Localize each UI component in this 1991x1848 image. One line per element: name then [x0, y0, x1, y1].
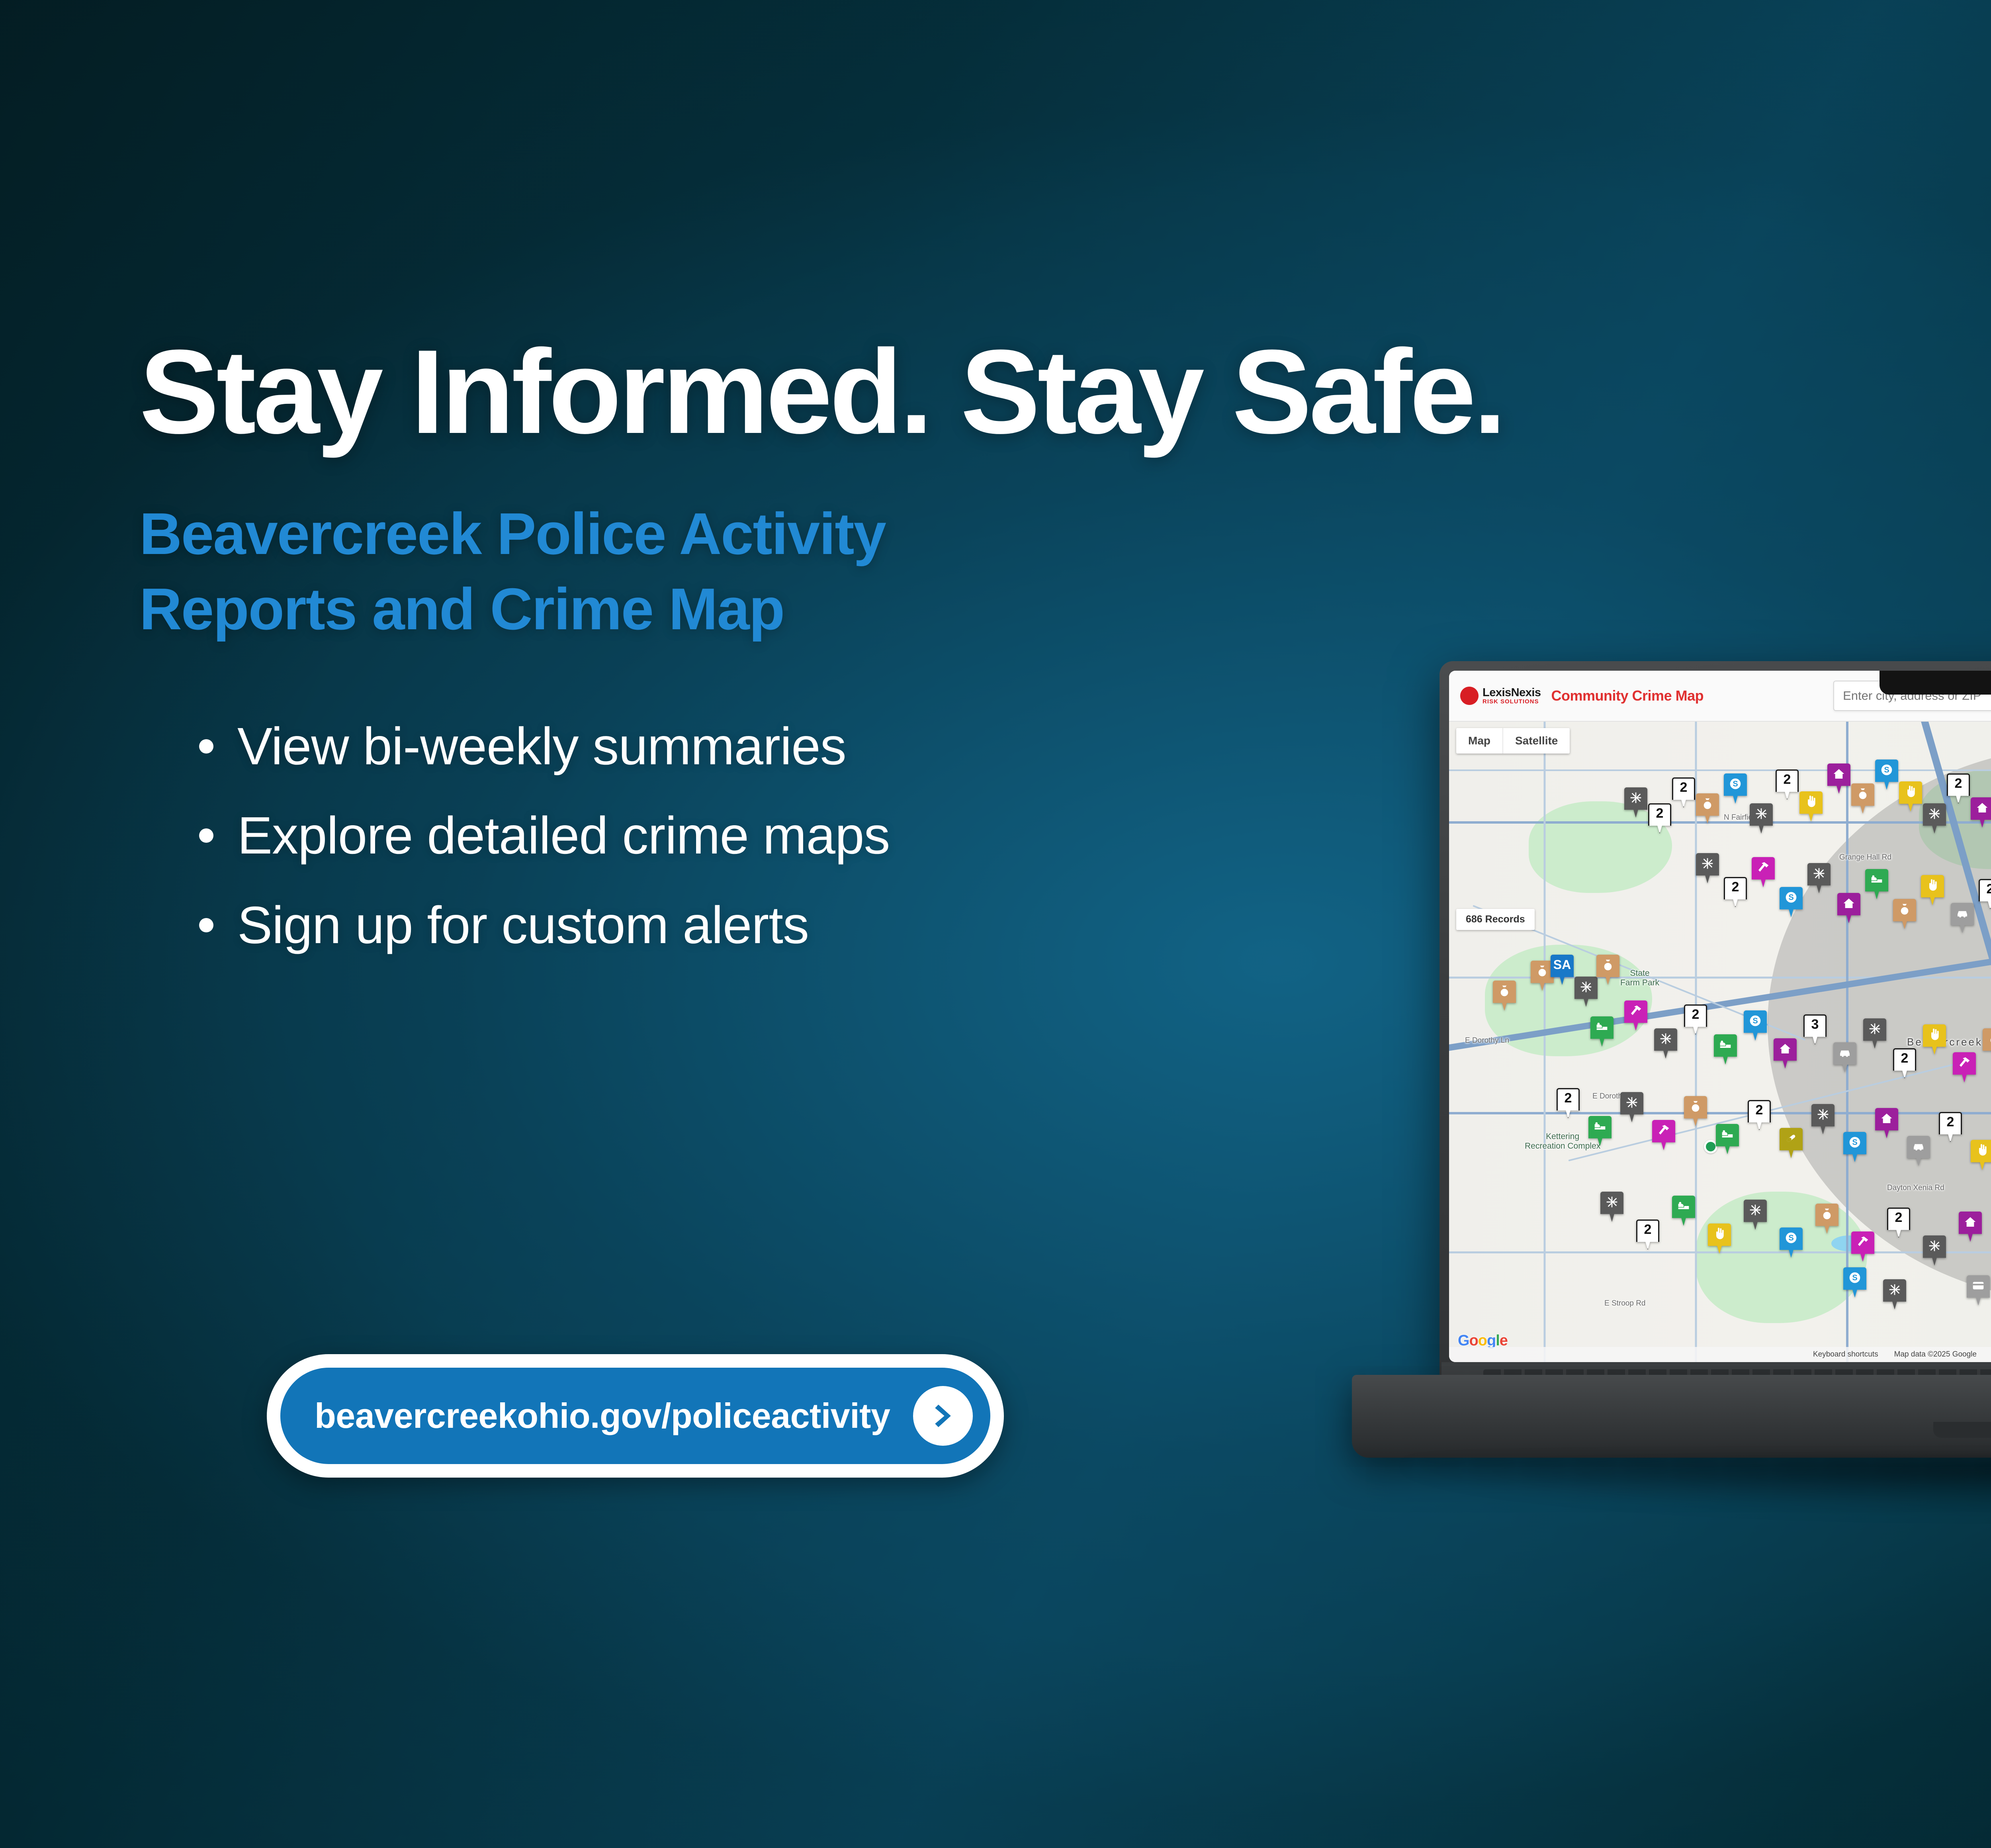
bullet-dot-icon	[199, 918, 213, 932]
incident-pin-dollar[interactable]: S	[1724, 773, 1747, 804]
pin-house-icon	[1842, 897, 1855, 910]
pin-sa-label: SA	[1553, 958, 1571, 971]
pin-house-icon	[1779, 1042, 1792, 1055]
incident-pin-ast[interactable]	[1624, 787, 1647, 818]
pin-cluster-count: 2	[1680, 781, 1688, 794]
incident-cluster-pin[interactable]: 2	[1672, 777, 1695, 808]
road-segment	[1449, 821, 1991, 824]
records-count-badge: 686 Records	[1456, 909, 1535, 930]
bullet-label: View bi-weekly summaries	[237, 715, 846, 778]
map-poi-marker[interactable]	[1704, 1140, 1717, 1153]
feature-bullet-list: View bi-weekly summaries Explore detaile…	[199, 715, 1434, 957]
incident-pin-ast[interactable]	[1883, 1279, 1906, 1310]
pin-ast-icon	[1928, 1239, 1941, 1252]
incident-pin-pills[interactable]	[1780, 1128, 1803, 1158]
pin-cluster-count: 2	[1692, 1008, 1700, 1021]
map-type-map[interactable]: Map	[1456, 728, 1502, 754]
incident-pin-dollar[interactable]: S	[1843, 1267, 1866, 1298]
lexisnexis-logo[interactable]: LexisNexis RISK SOLUTIONS	[1460, 687, 1541, 705]
bullet-dot-icon	[199, 739, 213, 754]
pin-cluster-count: 2	[1784, 773, 1791, 786]
incident-pin-house[interactable]	[1959, 1212, 1982, 1242]
pin-cluster-count: 2	[1644, 1223, 1652, 1236]
incident-pin-card[interactable]	[1967, 1275, 1990, 1306]
incident-pin-car[interactable]	[1907, 1136, 1930, 1166]
incident-pin-ast[interactable]	[1744, 1200, 1767, 1230]
incident-pin-ast[interactable]	[1574, 977, 1598, 1007]
pin-money-icon	[1689, 1100, 1702, 1113]
incident-cluster-pin[interactable]: 2	[1557, 1088, 1580, 1118]
svg-text:S: S	[1752, 1017, 1758, 1026]
map-type-satellite[interactable]: Satellite	[1502, 728, 1570, 754]
cta-url-button[interactable]: beavercreekohio.gov/policeactivity	[280, 1368, 990, 1464]
laptop-mockup: LexisNexis RISK SOLUTIONS Community Crim…	[1352, 661, 1991, 1529]
lexisnexis-mark-icon	[1460, 687, 1479, 705]
pin-cluster-count: 2	[1987, 882, 1991, 896]
incident-pin-money[interactable]	[1893, 899, 1916, 929]
incident-pin-car[interactable]	[1951, 903, 1974, 933]
incident-cluster-pin[interactable]: 2	[1648, 803, 1671, 834]
pin-card-icon	[1972, 1279, 1985, 1292]
incident-pin-dollar[interactable]: S	[1780, 1227, 1803, 1258]
incident-pin-bed[interactable]	[1714, 1034, 1737, 1065]
incident-pin-dollar[interactable]: S	[1780, 887, 1803, 917]
incident-pin-ast[interactable]	[1600, 1192, 1623, 1222]
pin-money-icon	[1898, 903, 1911, 916]
incident-pin-ast[interactable]	[1654, 1028, 1677, 1059]
chevron-right-icon	[913, 1386, 973, 1446]
pin-dollar-icon: S	[1749, 1014, 1762, 1027]
pin-ast-icon	[1625, 1096, 1638, 1109]
pin-bed-icon	[1719, 1038, 1732, 1051]
incident-pin-house[interactable]	[1827, 763, 1850, 794]
pin-ast-icon	[1629, 791, 1642, 804]
map-label: Dayton Xenia Rd	[1887, 1184, 1944, 1192]
pin-cluster-count: 2	[1947, 1115, 1954, 1129]
incident-pin-dollar[interactable]: S	[1875, 760, 1898, 790]
road-segment	[1449, 1112, 1991, 1114]
incident-cluster-pin[interactable]: 2	[1979, 879, 1991, 909]
map-attribution-bar: Keyboard shortcuts Map data ©2025 Google…	[1449, 1347, 1991, 1362]
svg-text:S: S	[1852, 1138, 1857, 1147]
pin-cluster-count: 2	[1656, 807, 1664, 820]
incident-pin-hand[interactable]	[1899, 781, 1922, 812]
pin-ast-icon	[1606, 1196, 1618, 1208]
map-label: Grange Hall Rd	[1839, 853, 1891, 862]
incident-pin-ast[interactable]	[1923, 803, 1946, 834]
laptop-lid: LexisNexis RISK SOLUTIONS Community Crim…	[1439, 661, 1991, 1378]
incident-cluster-pin[interactable]: 3	[1803, 1014, 1827, 1045]
list-item: Explore detailed crime maps	[199, 804, 1434, 867]
incident-pin-hammer[interactable]	[1752, 857, 1775, 887]
list-item: Sign up for custom alerts	[199, 894, 1434, 957]
laptop-screen: LexisNexis RISK SOLUTIONS Community Crim…	[1449, 671, 1991, 1362]
pin-bed-icon	[1870, 873, 1883, 886]
pin-hammer-icon	[1958, 1056, 1971, 1069]
pin-hand-icon	[1926, 879, 1939, 892]
pin-hand-icon	[1713, 1227, 1726, 1240]
page-title: Stay Informed. Stay Safe.	[139, 331, 1434, 452]
pin-cluster-count: 2	[1901, 1051, 1909, 1065]
incident-pin-hand[interactable]	[1923, 1024, 1946, 1055]
pin-money-icon	[1602, 959, 1614, 971]
incident-cluster-pin[interactable]: 2	[1684, 1004, 1707, 1035]
incident-cluster-pin[interactable]: 2	[1748, 1100, 1771, 1130]
pin-money-icon	[1821, 1208, 1833, 1220]
incident-cluster-pin[interactable]: 2	[1947, 773, 1970, 804]
pin-house-icon	[1833, 767, 1845, 780]
pin-hand-icon	[1928, 1028, 1941, 1041]
road-segment	[1846, 722, 1848, 1362]
crime-map-canvas[interactable]: State Farm ParkKettering Recreation Comp…	[1449, 722, 1991, 1362]
pin-bed-icon	[1677, 1200, 1690, 1212]
pin-ast-icon	[1813, 867, 1825, 880]
pin-hand-icon	[1805, 795, 1817, 808]
pin-money-icon	[1701, 797, 1714, 810]
incident-pin-sa[interactable]: SA	[1551, 955, 1574, 985]
incident-pin-money[interactable]	[1684, 1096, 1707, 1126]
pin-ast-icon	[1868, 1022, 1881, 1035]
pin-car-icon	[1956, 907, 1969, 920]
incident-pin-ast[interactable]	[1620, 1092, 1643, 1122]
pin-ast-icon	[1928, 807, 1941, 820]
pin-hammer-icon	[1629, 1004, 1642, 1017]
incident-pin-money[interactable]	[1596, 955, 1619, 985]
incident-pin-hammer[interactable]	[1851, 1231, 1874, 1262]
pin-car-icon	[1838, 1046, 1851, 1059]
svg-text:S: S	[1788, 893, 1793, 902]
cta-button-outline: beavercreekohio.gov/policeactivity	[267, 1354, 1004, 1478]
pin-house-icon	[1976, 801, 1989, 814]
road-segment	[1449, 769, 1991, 771]
incident-pin-money[interactable]	[1983, 1028, 1991, 1059]
incident-pin-house[interactable]	[1971, 797, 1991, 828]
pin-ast-icon	[1580, 981, 1592, 993]
incident-pin-hand[interactable]	[1799, 791, 1823, 822]
pin-hammer-icon	[1657, 1124, 1670, 1137]
subtitle-line-2: Reports and Crime Map	[139, 572, 1354, 647]
pin-bed-icon	[1594, 1120, 1606, 1133]
svg-text:S: S	[1788, 1234, 1793, 1243]
pin-ast-icon	[1755, 807, 1768, 820]
subtitle-line-1: Beavercreek Police Activity	[139, 496, 1354, 572]
pin-cluster-count: 2	[1895, 1211, 1903, 1224]
pin-hand-icon	[1976, 1144, 1989, 1157]
pin-cluster-count: 3	[1811, 1018, 1819, 1031]
pin-bed-icon	[1596, 1020, 1608, 1033]
pin-hand-icon	[1904, 785, 1917, 798]
incident-pin-hammer[interactable]	[1652, 1120, 1675, 1150]
pin-dollar-icon: S	[1785, 1231, 1797, 1244]
pin-dollar-icon: S	[1848, 1271, 1861, 1284]
lexisnexis-name: LexisNexis	[1482, 686, 1541, 699]
incident-pin-hammer[interactable]	[1953, 1052, 1976, 1083]
incident-pin-hand[interactable]	[1971, 1140, 1991, 1170]
pin-car-icon	[1912, 1140, 1925, 1153]
map-data-credit: Map data ©2025 Google	[1894, 1350, 1977, 1359]
pin-money-icon	[1856, 787, 1869, 800]
left-content-column: Stay Informed. Stay Safe. Beavercreek Po…	[139, 331, 1434, 983]
incident-cluster-pin[interactable]: 2	[1724, 877, 1747, 907]
page-subtitle: Beavercreek Police Activity Reports and …	[139, 496, 1354, 647]
pin-bed-icon	[1721, 1128, 1734, 1141]
pin-cluster-count: 2	[1955, 777, 1962, 790]
incident-cluster-pin[interactable]: 2	[1636, 1220, 1659, 1250]
pin-dollar-icon: S	[1785, 891, 1797, 904]
incident-pin-ast[interactable]	[1750, 803, 1773, 834]
incident-pin-house[interactable]	[1774, 1038, 1797, 1069]
incident-pin-house[interactable]	[1875, 1108, 1898, 1138]
webcam-notch-icon	[1880, 671, 1991, 695]
map-label: State Farm Park	[1620, 969, 1659, 988]
pin-cluster-count: 2	[1756, 1103, 1763, 1117]
pin-money-icon	[1988, 1032, 1991, 1045]
pin-ast-icon	[1749, 1204, 1762, 1216]
incident-cluster-pin[interactable]: 2	[1776, 769, 1799, 800]
lexisnexis-tagline: RISK SOLUTIONS	[1482, 698, 1539, 705]
incident-pin-ast[interactable]	[1811, 1104, 1835, 1134]
svg-text:S: S	[1852, 1274, 1857, 1282]
incident-pin-ast[interactable]	[1863, 1018, 1886, 1049]
pin-dollar-icon: S	[1729, 777, 1742, 790]
list-item: View bi-weekly summaries	[199, 715, 1434, 778]
bullet-dot-icon	[199, 828, 213, 843]
incident-pin-money[interactable]	[1493, 981, 1516, 1011]
keyboard-shortcuts-link[interactable]: Keyboard shortcuts	[1813, 1350, 1878, 1359]
laptop-drop-shadow	[1400, 1462, 1991, 1513]
pin-hammer-icon	[1856, 1235, 1869, 1248]
cta-url-label: beavercreekohio.gov/policeactivity	[315, 1396, 890, 1436]
incident-pin-house[interactable]	[1837, 893, 1860, 923]
map-type-toggle[interactable]: Map Satellite	[1456, 728, 1570, 754]
incident-pin-dollar[interactable]: S	[1744, 1010, 1767, 1041]
pin-cluster-count: 2	[1732, 880, 1739, 894]
bullet-label: Explore detailed crime maps	[237, 804, 890, 867]
incident-pin-bed[interactable]	[1672, 1196, 1695, 1226]
incident-cluster-pin[interactable]: 2	[1887, 1208, 1910, 1238]
app-title: Community Crime Map	[1551, 687, 1704, 704]
incident-cluster-pin[interactable]: 2	[1893, 1048, 1916, 1079]
pin-dollar-icon: S	[1880, 763, 1893, 776]
incident-pin-bed[interactable]	[1588, 1116, 1612, 1146]
laptop-base	[1352, 1375, 1991, 1458]
incident-pin-hand[interactable]	[1921, 875, 1944, 905]
incident-pin-dollar[interactable]: S	[1843, 1132, 1866, 1162]
incident-pin-money[interactable]	[1851, 783, 1874, 814]
svg-text:S: S	[1884, 766, 1889, 775]
road-segment	[1544, 722, 1546, 1362]
pin-money-icon	[1536, 965, 1549, 977]
incident-pin-bed[interactable]	[1716, 1124, 1739, 1154]
bullet-label: Sign up for custom alerts	[237, 894, 809, 957]
pin-money-icon	[1498, 985, 1511, 997]
incident-pin-bed[interactable]	[1865, 869, 1888, 899]
pin-dollar-icon: S	[1848, 1136, 1861, 1149]
laptop-lid-grip	[1933, 1422, 1991, 1438]
incident-pin-money[interactable]	[1696, 793, 1719, 824]
pin-pills-icon	[1785, 1132, 1797, 1145]
incident-pin-bed[interactable]	[1590, 1016, 1614, 1047]
pin-house-icon	[1880, 1112, 1893, 1125]
incident-pin-car[interactable]	[1833, 1042, 1856, 1073]
pin-hammer-icon	[1757, 861, 1770, 874]
incident-pin-ast[interactable]	[1696, 853, 1719, 883]
incident-pin-ast[interactable]	[1923, 1235, 1946, 1266]
incident-pin-money[interactable]	[1815, 1204, 1838, 1234]
incident-pin-hand[interactable]	[1708, 1224, 1731, 1254]
pin-ast-icon	[1701, 857, 1714, 870]
pin-ast-icon	[1888, 1283, 1901, 1296]
map-label: E Stroop Rd	[1604, 1299, 1646, 1308]
incident-cluster-pin[interactable]: 2	[1939, 1112, 1962, 1142]
incident-pin-ast[interactable]	[1807, 863, 1831, 893]
pin-ast-icon	[1659, 1032, 1672, 1045]
map-label: E Dorothy Ln	[1465, 1036, 1509, 1045]
pin-cluster-count: 2	[1565, 1091, 1572, 1105]
incident-pin-hammer[interactable]	[1624, 1000, 1647, 1031]
svg-text:S: S	[1733, 780, 1738, 789]
pin-ast-icon	[1817, 1108, 1829, 1121]
pin-house-icon	[1964, 1216, 1977, 1228]
